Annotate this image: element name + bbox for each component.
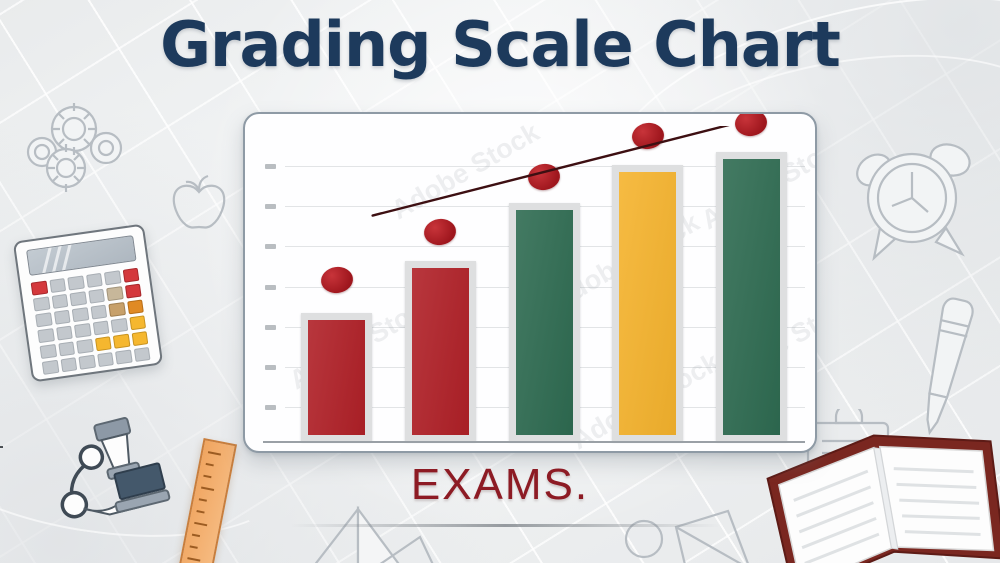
- geometric-shapes-icon-right: [620, 505, 790, 563]
- chart-bars: [285, 126, 801, 441]
- footer-divider: [290, 524, 720, 527]
- y-axis-tick: [265, 285, 276, 290]
- chart-bar-2: [405, 261, 476, 441]
- calculator-keys: [29, 267, 153, 375]
- bar-body: [405, 261, 476, 441]
- bar-fill: [723, 159, 780, 435]
- pen-icon: [898, 292, 990, 440]
- y-axis-tick: [265, 405, 276, 410]
- chart-bar-4: [612, 165, 683, 441]
- y-axis-tick: [265, 204, 276, 209]
- bar-body: [612, 165, 683, 441]
- gears-icon: [22, 96, 150, 196]
- data-point-marker: [526, 162, 561, 192]
- bar-fill: [516, 210, 573, 435]
- bar-body: [301, 313, 372, 441]
- y-axis-tick: [265, 365, 276, 370]
- data-point-marker: [423, 217, 458, 247]
- data-point-marker: [734, 112, 769, 138]
- page-title: Grading Scale Chart: [0, 8, 1000, 81]
- data-point-marker: [630, 121, 665, 151]
- y-axis-tick: [265, 164, 276, 169]
- chart-bar-5: [716, 152, 787, 441]
- alarm-clock-icon: [846, 136, 982, 264]
- calculator-icon: [13, 224, 163, 383]
- geometric-shapes-icon: [300, 501, 500, 563]
- bar-body: [509, 203, 580, 441]
- chart-bar-3: [509, 203, 580, 441]
- chart-card: Adobe Stock Adobe Stock Adobe Stock Adob…: [243, 112, 817, 453]
- chart-bar-1: [301, 313, 372, 441]
- y-axis-tick: [265, 325, 276, 330]
- bar-fill: [619, 172, 676, 435]
- bar-body: [716, 152, 787, 441]
- bar-fill: [412, 268, 469, 435]
- apple-icon: [166, 172, 232, 236]
- stock-watermark-text: Adobe Stock | #1117291467: [0, 344, 4, 551]
- y-axis-tick: [265, 244, 276, 249]
- bar-fill: [308, 320, 365, 435]
- poster-canvas: Grading Scale Chart Adobe Stock Adobe St…: [0, 0, 1000, 563]
- chart-plot-area: Adobe Stock Adobe Stock Adobe Stock Adob…: [263, 126, 805, 443]
- chart-baseline: [263, 441, 805, 443]
- data-point-marker: [319, 265, 354, 295]
- footer-label: EXAMS.: [0, 460, 1000, 510]
